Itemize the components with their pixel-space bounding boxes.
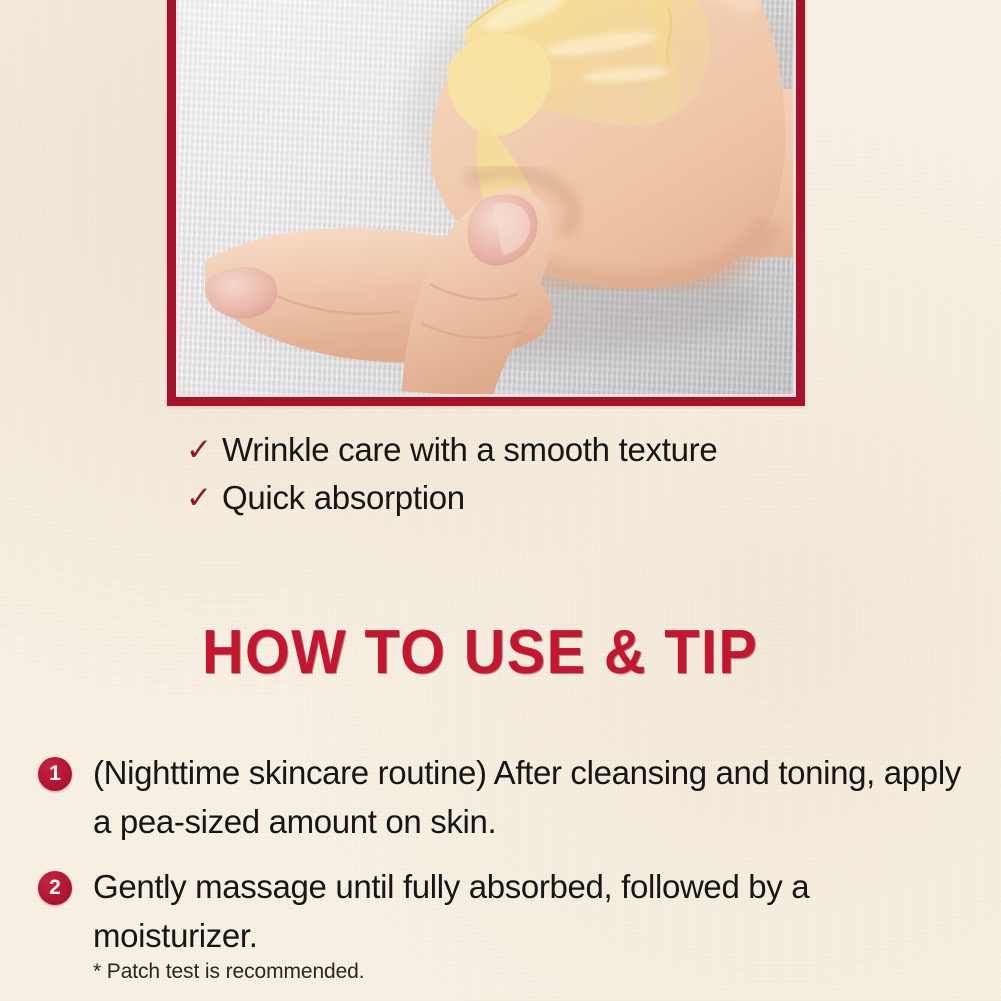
feature-list: ✓ Wrinkle care with a smooth texture ✓ Q…	[186, 428, 717, 524]
check-icon: ✓	[186, 476, 208, 520]
feature-label: Quick absorption	[222, 476, 465, 520]
list-item: ✓ Quick absorption	[186, 476, 717, 520]
how-to-use-steps: 1 (Nighttime skincare routine) After cle…	[38, 748, 968, 976]
list-item: 2 Gently massage until fully absorbed, f…	[38, 862, 968, 960]
hand-illustration	[176, 0, 796, 397]
step-number-badge: 1	[38, 757, 72, 791]
step-text: (Nighttime skincare routine) After clean…	[93, 748, 968, 846]
product-photo	[176, 0, 796, 397]
step-text: Gently massage until fully absorbed, fol…	[93, 862, 968, 960]
list-item: ✓ Wrinkle care with a smooth texture	[186, 428, 717, 472]
check-icon: ✓	[186, 428, 208, 472]
footnote: * Patch test is recommended.	[93, 958, 365, 986]
page-title: HOW TO USE & TIP	[202, 622, 758, 684]
feature-label: Wrinkle care with a smooth texture	[222, 428, 717, 472]
list-item: 1 (Nighttime skincare routine) After cle…	[38, 748, 968, 846]
step-number-badge: 2	[38, 871, 72, 905]
product-photo-frame	[167, 0, 805, 406]
